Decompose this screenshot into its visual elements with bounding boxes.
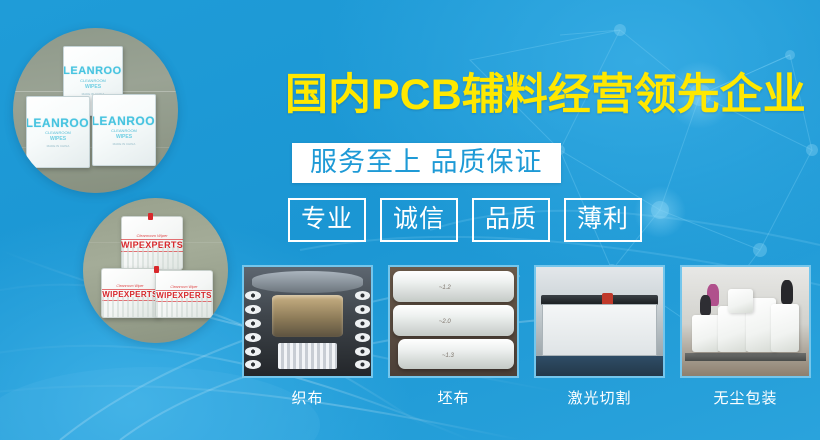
- rpack-brand: WIPEXPERTS: [102, 289, 157, 301]
- pack-line2: CLEANROOM: [45, 131, 71, 135]
- process-item-greige-fabric: ~1.2 ~2.0 ~1.3 坯布: [388, 265, 519, 408]
- thumbnail-caption: 激光切割: [534, 387, 665, 408]
- pack-line2: CLEANROOM: [111, 129, 137, 133]
- process-item-laser-cutting: 激光切割: [534, 265, 665, 408]
- product-photo-wipexperts: Cleanroom Wiper WIPEXPERTS Cleanroom Wip…: [83, 198, 228, 343]
- pack-sub: WIPES: [85, 85, 101, 90]
- red-tab-icon: [154, 266, 159, 273]
- pack-line2: CLEANROOM: [80, 79, 106, 83]
- thumbnail-caption: 无尘包装: [680, 387, 811, 408]
- thumbnail-weaving: [242, 265, 373, 378]
- pack-sub: WIPES: [50, 137, 66, 142]
- rpack-script: Cleanroom Wiper: [170, 286, 197, 290]
- rpack-brand: WIPEXPERTS: [156, 290, 211, 302]
- rpack-brand: WIPEXPERTS: [121, 239, 183, 252]
- pack-brand: CLEANROOM: [63, 66, 123, 77]
- process-item-cleanroom-packing: 无尘包装: [680, 265, 811, 408]
- product-photo-cleanroom: CLEANROOM CLEANROOM WIPES MADE IN CHINA …: [13, 28, 178, 193]
- thumbnail-caption: 织布: [242, 387, 373, 408]
- pack-brand: CLEANROOM: [92, 115, 156, 127]
- tag-item-1: 专业: [288, 198, 366, 242]
- pack-sub: WIPES: [116, 135, 132, 140]
- promo-banner: CLEANROOM CLEANROOM WIPES MADE IN CHINA …: [0, 0, 820, 440]
- thumbnail-cleanroom-packing: [680, 265, 811, 378]
- red-tab-icon: [148, 213, 153, 220]
- tag-item-4: 薄利: [564, 198, 642, 242]
- tag-list: 专业 诚信 品质 薄利: [288, 198, 642, 242]
- rpack-script: Cleanroom Wiper: [116, 285, 143, 289]
- slogan-box: 服务至上 品质保证: [292, 143, 561, 183]
- slogan-text: 服务至上 品质保证: [310, 149, 543, 176]
- thumbnail-greige-fabric: ~1.2 ~2.0 ~1.3: [388, 265, 519, 378]
- thumbnail-laser-cutting: [534, 265, 665, 378]
- tag-item-3: 品质: [472, 198, 550, 242]
- pack-fineprint: MADE IN CHINA: [113, 143, 136, 146]
- thumbnail-caption: 坯布: [388, 387, 519, 408]
- page-title: 国内PCB辅料经营领先企业: [285, 74, 806, 117]
- rpack-script: Cleanroom Wiper: [136, 234, 167, 238]
- tag-item-2: 诚信: [380, 198, 458, 242]
- process-thumbnail-list: 织布 ~1.2 ~2.0 ~1.3 坯布 激光切割: [242, 265, 811, 408]
- pack-fineprint: MADE IN CHINA: [47, 145, 70, 148]
- process-item-weaving: 织布: [242, 265, 373, 408]
- pack-brand: CLEANROOM: [26, 117, 90, 129]
